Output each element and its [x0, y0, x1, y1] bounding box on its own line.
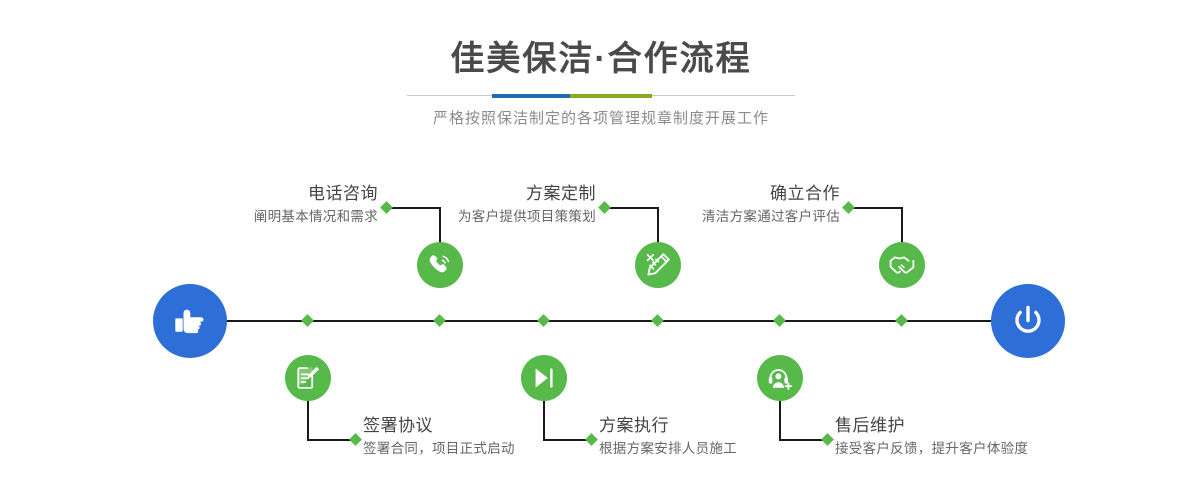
step-connector-horizontal-1 — [386, 207, 441, 209]
step-node-5[interactable] — [879, 242, 925, 288]
step-node-6[interactable] — [757, 355, 803, 401]
step-diamond-label-5 — [842, 201, 855, 214]
step-name-6: 售后维护 — [835, 415, 1165, 437]
cooperation-flow-page: 佳美保洁·合作流程 严格按照保洁制定的各项管理规章制度开展工作 — [0, 0, 1202, 502]
phone-call-icon — [426, 251, 454, 279]
step-name-3: 方案定制 — [318, 183, 596, 205]
pointing-hand-icon — [170, 301, 210, 341]
power-icon — [1007, 300, 1049, 342]
page-title: 佳美保洁·合作流程 — [0, 0, 1202, 80]
process-flow-diagram: 电话咨询 阐明基本情况和需求 签署协议 签署合同，项目正式启动 — [0, 150, 1202, 502]
step-connector-vertical-4 — [543, 396, 545, 440]
customer-service-icon — [766, 364, 794, 392]
step-node-4[interactable] — [521, 355, 567, 401]
play-execute-icon — [530, 364, 558, 392]
divider-segment-blue — [492, 94, 570, 98]
step-connector-horizontal-4 — [543, 439, 591, 441]
document-edit-icon — [294, 364, 322, 392]
page-header: 佳美保洁·合作流程 严格按照保洁制定的各项管理规章制度开展工作 — [0, 0, 1202, 129]
page-subtitle: 严格按照保洁制定的各项管理规章制度开展工作 — [0, 98, 1202, 129]
step-connector-horizontal-6 — [779, 439, 827, 441]
step-desc-6: 接受客户反馈，提升客户体验度 — [835, 437, 1165, 459]
pencil-ruler-icon — [644, 251, 672, 279]
flow-end-node[interactable] — [991, 284, 1065, 358]
step-diamond-label-2 — [349, 433, 362, 446]
handshake-icon — [888, 251, 916, 279]
step-connector-horizontal-2 — [307, 439, 355, 441]
title-divider — [407, 94, 795, 98]
step-diamond-axis-1 — [433, 314, 446, 327]
step-label-3: 方案定制 为客户提供项目策策划 — [318, 183, 596, 227]
divider-segment-green — [570, 94, 652, 98]
step-connector-vertical-6 — [779, 396, 781, 440]
step-label-6: 售后维护 接受客户反馈，提升客户体验度 — [835, 415, 1165, 459]
step-connector-horizontal-3 — [604, 207, 659, 209]
step-node-3[interactable] — [635, 242, 681, 288]
step-connector-horizontal-5 — [848, 207, 903, 209]
step-diamond-axis-6 — [773, 314, 786, 327]
step-desc-3: 为客户提供项目策策划 — [318, 205, 596, 227]
step-diamond-axis-3 — [651, 314, 664, 327]
step-diamond-axis-5 — [895, 314, 908, 327]
flow-start-node[interactable] — [153, 284, 227, 358]
step-node-2[interactable] — [285, 355, 331, 401]
step-node-1[interactable] — [417, 242, 463, 288]
step-diamond-axis-2 — [301, 314, 314, 327]
step-diamond-axis-4 — [537, 314, 550, 327]
step-connector-vertical-2 — [307, 396, 309, 440]
